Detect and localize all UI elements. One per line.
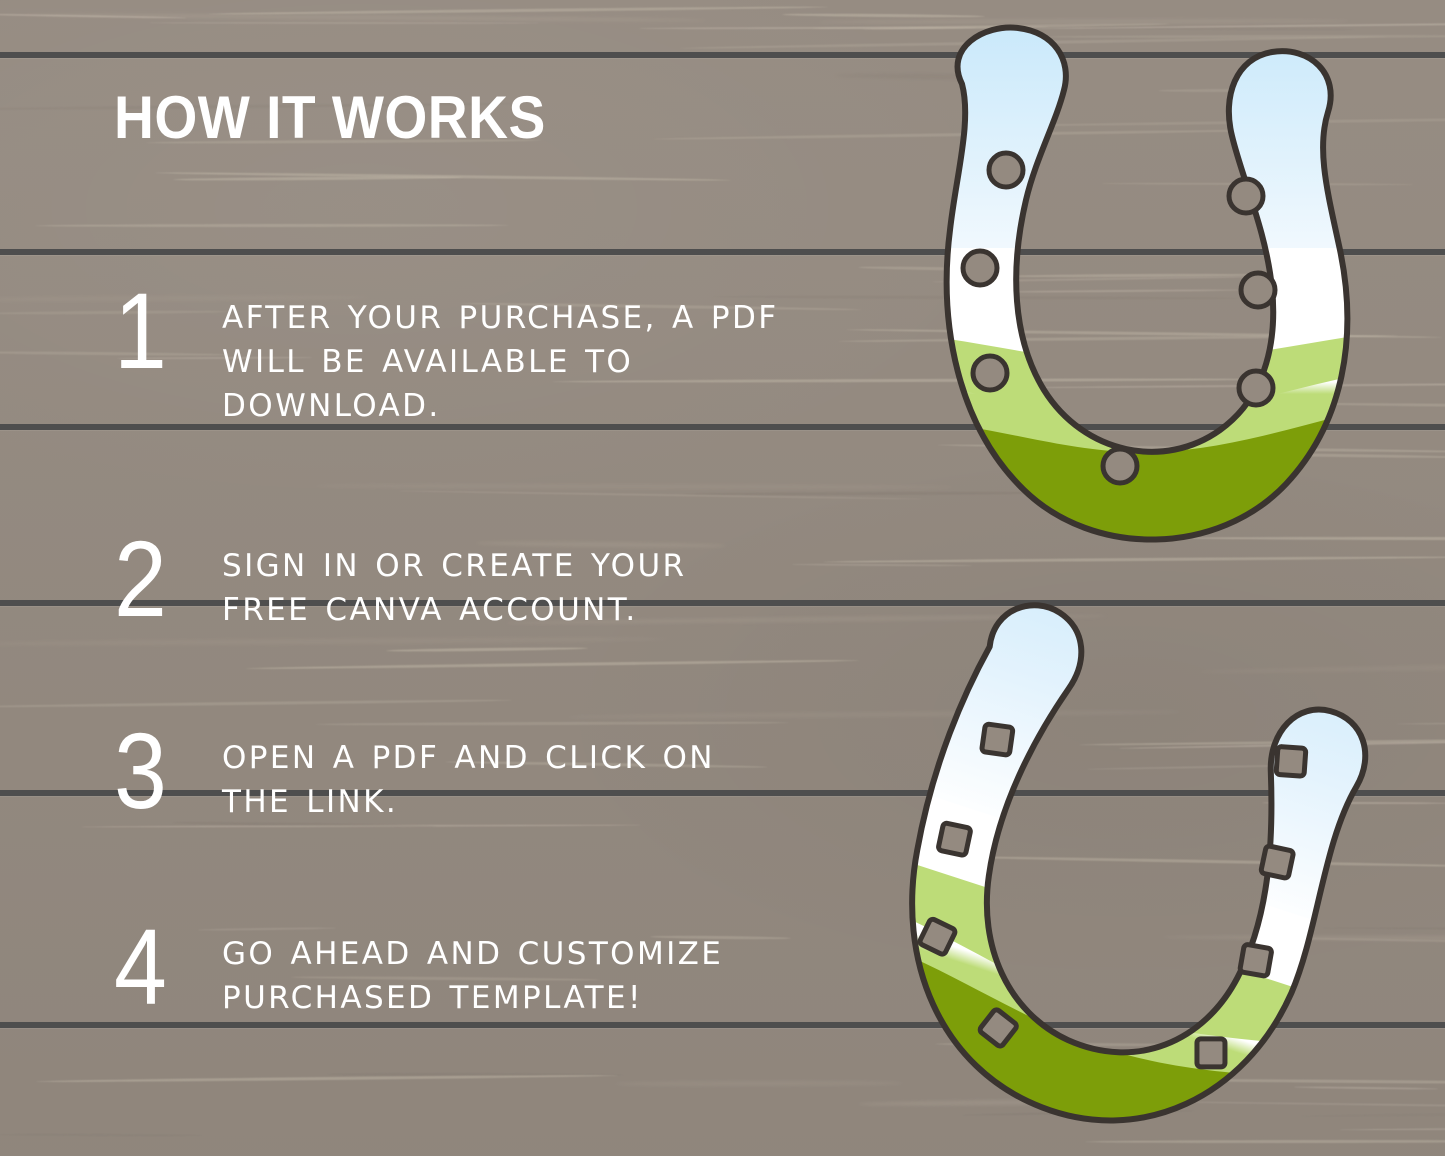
page-title: HOW IT WORKS [114,88,546,148]
step-text-1: After your purchase, a PDF will be avail… [222,282,787,428]
horseshoe-round-nails-icon [858,18,1368,563]
step-item-2: 2 Sign in or create your free Canva acco… [114,530,814,632]
step-item-1: 1 After your purchase, a PDF will be ava… [114,282,814,428]
step-number-4: 4 [114,918,209,1015]
step-text-3: Open a PDF and click on the link. [222,722,792,824]
horseshoe-square-nails-icon [855,575,1365,1130]
step-item-3: 3 Open a PDF and click on the link. [114,722,814,824]
step-text-2: Sign in or create your free Canva accoun… [222,530,767,632]
step-number-1: 1 [114,282,209,379]
step-item-4: 4 Go ahead and customize purchased templ… [114,918,814,1020]
step-text-4: Go ahead and customize purchased templat… [222,918,802,1020]
step-number-3: 3 [114,722,209,819]
step-number-2: 2 [114,530,209,627]
text-column: HOW IT WORKS 1 After your purchase, a PD… [0,0,860,1156]
how-it-works-graphic: HOW IT WORKS 1 After your purchase, a PD… [0,0,1445,1156]
